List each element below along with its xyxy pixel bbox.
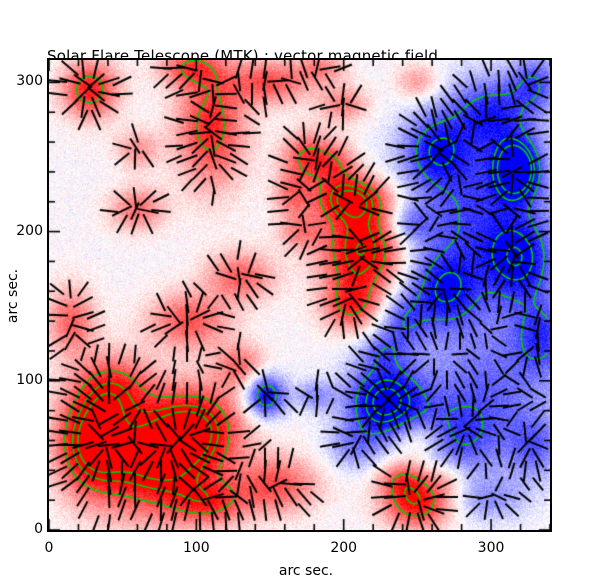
y-tick-label: 300 (3, 73, 43, 89)
x-tick-label: 200 (314, 540, 374, 556)
vector-magnetogram-image (49, 60, 550, 530)
magnetogram-plot-frame (47, 58, 552, 532)
y-tick-label: 200 (3, 223, 43, 239)
x-tick-label: 0 (19, 540, 79, 556)
x-tick-label: 300 (461, 540, 521, 556)
y-tick-label: 100 (3, 372, 43, 388)
y-axis-title: arc sec. (5, 261, 21, 331)
x-axis-title: arc sec. (0, 563, 612, 579)
y-tick-label: 0 (3, 521, 43, 537)
x-tick-label: 100 (166, 540, 226, 556)
